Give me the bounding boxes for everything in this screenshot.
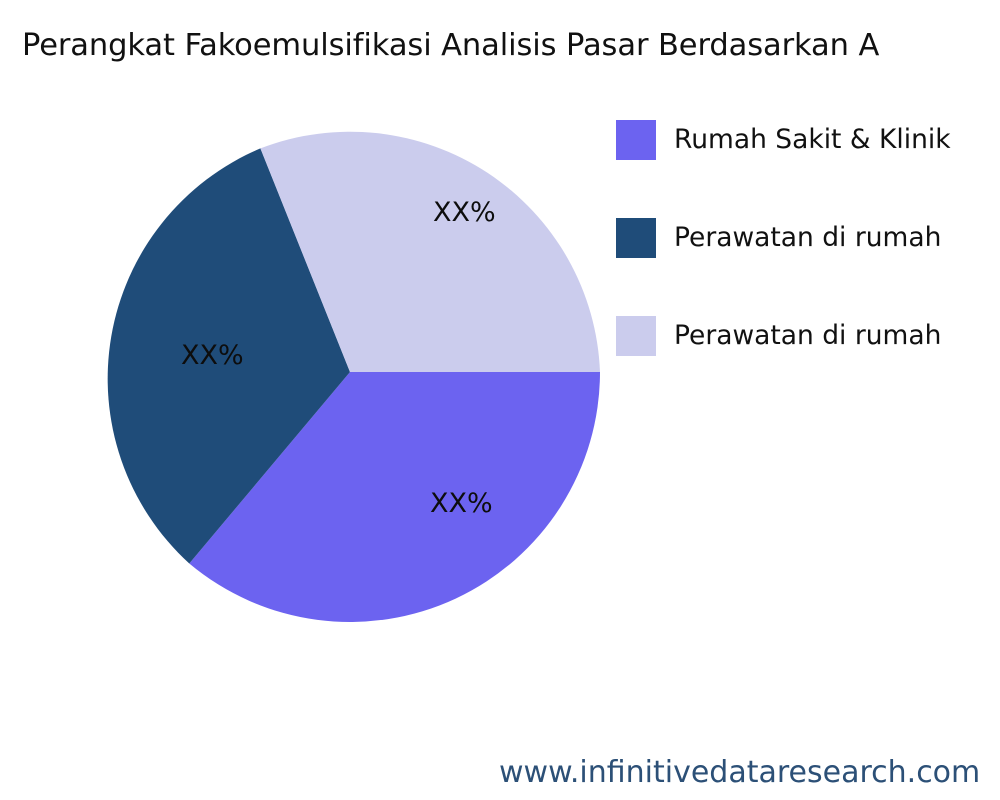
chart-canvas: Perangkat Fakoemulsifikasi Analisis Pasa…: [0, 0, 1000, 800]
legend-item-perawatan-di-rumah-1[interactable]: Perawatan di rumah: [616, 216, 1000, 314]
legend-item-rumah-sakit-klinik[interactable]: Rumah Sakit & Klinik: [616, 118, 1000, 216]
legend-item-label: Perawatan di rumah: [674, 317, 941, 355]
pie-slice-label-lavender: XX%: [433, 198, 496, 228]
source-website-url[interactable]: www.infinitivedataresearch.com: [499, 755, 980, 791]
pie-slice-label-purple: XX%: [430, 489, 493, 519]
legend-swatch-icon: [616, 218, 656, 258]
legend-item-perawatan-di-rumah-2[interactable]: Perawatan di rumah: [616, 314, 1000, 412]
pie-chart: [100, 122, 600, 622]
legend-swatch-icon: [616, 316, 656, 356]
chart-title: Perangkat Fakoemulsifikasi Analisis Pasa…: [22, 26, 1000, 66]
pie-svg: [100, 122, 600, 622]
legend-item-label: Perawatan di rumah: [674, 219, 941, 257]
legend-swatch-icon: [616, 120, 656, 160]
legend-item-label: Rumah Sakit & Klinik: [674, 121, 951, 159]
pie-slice-label-navy: XX%: [181, 341, 244, 371]
chart-legend: Rumah Sakit & Klinik Perawatan di rumah …: [616, 118, 1000, 412]
